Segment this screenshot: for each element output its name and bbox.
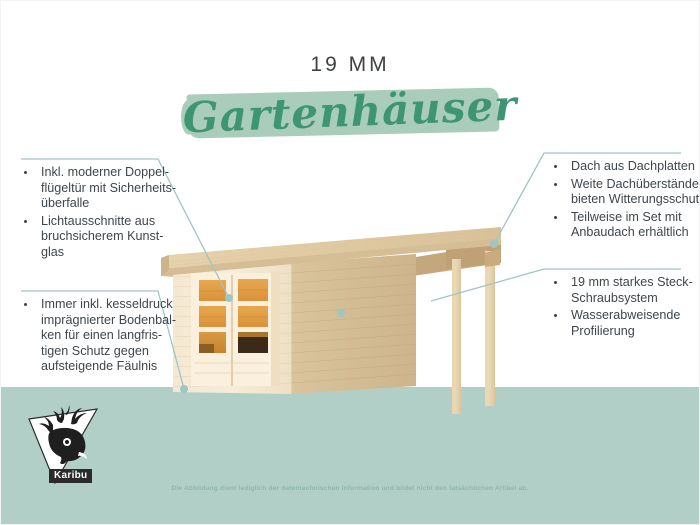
line: bruchsicherem Kunst- [41, 229, 164, 243]
line: aufsteigende Fäulnis [41, 359, 157, 373]
callout-top-right-list: Dach aus Dachplatten Weite Dachüberständ… [549, 159, 700, 241]
line: tigen Schutz gegen [41, 344, 149, 358]
line: Lichtausschnitte aus [41, 214, 155, 228]
list-item: Inkl. moderner Doppel- flügeltür mit Sic… [19, 165, 189, 212]
page-title-wrap: Gartenhäuser [1, 89, 699, 141]
callout-top-right: Dach aus Dachplatten Weite Dachüberständ… [549, 159, 700, 243]
line: Teilweise im Set mit [571, 210, 682, 224]
line: Wasserabweisende [571, 308, 680, 322]
callout-bottom-right-list: 19 mm starkes Steck- Schraubsystem Wasse… [549, 275, 700, 339]
callout-bottom-right: 19 mm starkes Steck- Schraubsystem Wasse… [549, 275, 700, 341]
list-item: 19 mm starkes Steck- Schraubsystem [549, 275, 700, 306]
line: glas [41, 245, 64, 259]
list-item: Dach aus Dachplatten [549, 159, 700, 175]
line: imprägnierter Bodenbal- [41, 313, 176, 327]
list-item: Immer inkl. kesseldruck imprägnierter Bo… [19, 297, 194, 375]
line: flügeltür mit Sicherheits- [41, 181, 176, 195]
line: Weite Dachüberstände [571, 177, 699, 191]
line: Immer inkl. kesseldruck [41, 297, 173, 311]
callout-bottom-left: Immer inkl. kesseldruck imprägnierter Bo… [19, 297, 194, 377]
line: Profilierung [571, 324, 635, 338]
list-item: Teilweise im Set mit Anbaudach erhältlic… [549, 210, 700, 241]
karibu-logo: Karibu [23, 405, 107, 485]
line: Anbaudach erhältlich [571, 225, 689, 239]
list-item: Lichtausschnitte aus bruchsicherem Kunst… [19, 214, 189, 261]
line: Schraubsystem [571, 291, 658, 305]
list-item: Weite Dachüberstände bieten Witterungssc… [549, 177, 700, 208]
callout-top-left-list: Inkl. moderner Doppel- flügeltür mit Sic… [19, 165, 189, 261]
page-kicker: 19 MM [1, 53, 699, 77]
line: bieten Witterungsschutz [571, 192, 700, 206]
logo-wordmark: Karibu [49, 469, 92, 483]
disclaimer-text: Die Abbildung dient lediglich der datent… [1, 485, 699, 492]
line: Inkl. moderner Doppel- [41, 165, 169, 179]
line: überfalle [41, 196, 89, 210]
callout-top-left: Inkl. moderner Doppel- flügeltür mit Sic… [19, 165, 189, 263]
line: 19 mm starkes Steck- [571, 275, 693, 289]
line: ken für einen langfris- [41, 328, 162, 342]
callout-bottom-left-list: Immer inkl. kesseldruck imprägnierter Bo… [19, 297, 194, 375]
list-item: Wasserabweisende Profilierung [549, 308, 700, 339]
line: Dach aus Dachplatten [571, 159, 695, 173]
product-info-card: Inkl. moderner Doppel- flügeltür mit Sic… [0, 0, 700, 525]
